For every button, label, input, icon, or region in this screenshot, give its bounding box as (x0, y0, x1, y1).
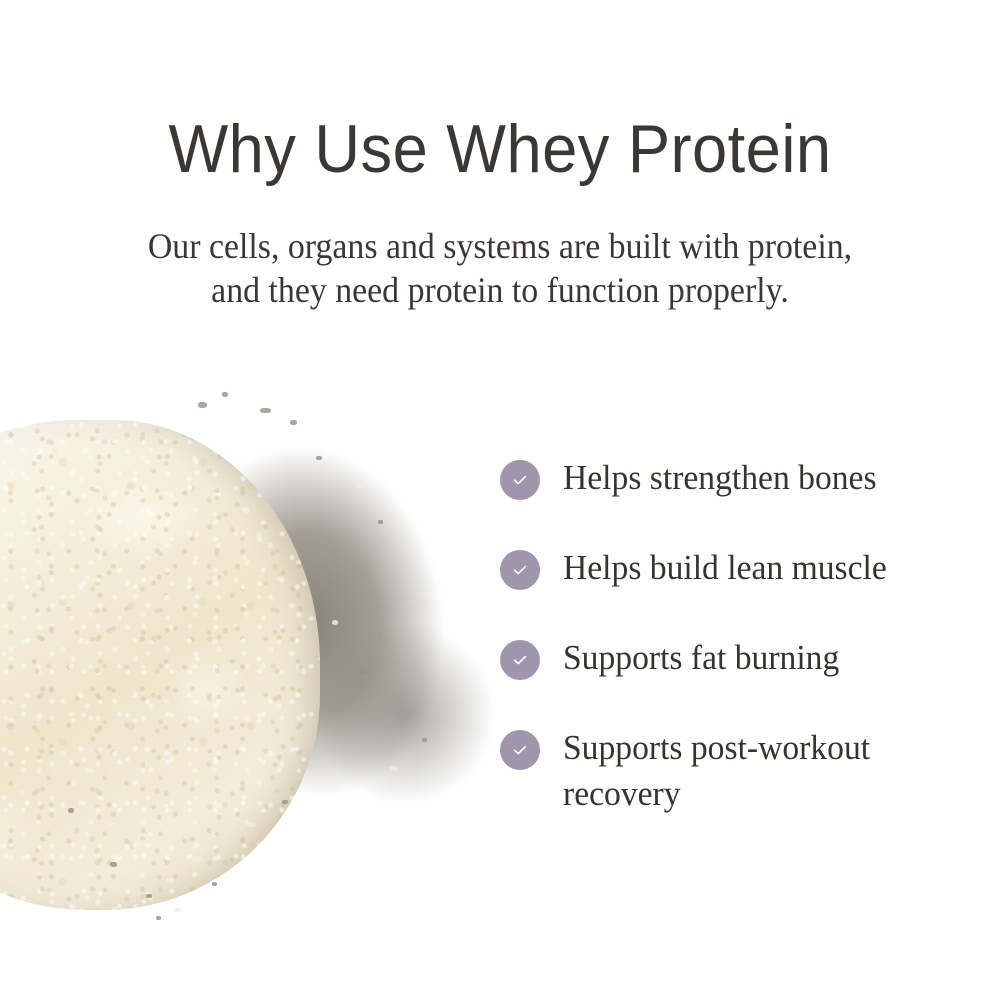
benefit-item: Helps strengthen bones (500, 455, 960, 501)
benefit-label: Supports post-workout recovery (563, 725, 944, 817)
benefit-label: Helps build lean muscle (563, 545, 887, 591)
benefit-label: Supports fat burning (563, 635, 839, 681)
check-circle-icon (500, 550, 540, 590)
benefit-item: Supports fat burning (500, 635, 960, 681)
benefit-item: Supports post-workout recovery (500, 725, 960, 817)
powder-crumbs (0, 370, 520, 970)
benefit-label: Helps strengthen bones (563, 455, 877, 501)
page-title: Why Use Whey Protein (91, 110, 909, 188)
benefits-list: Helps strengthen bones Helps build lean … (500, 455, 960, 817)
benefit-item: Helps build lean muscle (500, 545, 960, 591)
check-circle-icon (500, 460, 540, 500)
promo-card: Why Use Whey Protein Our cells, organs a… (0, 0, 1000, 1000)
check-circle-icon (500, 640, 540, 680)
check-circle-icon (500, 730, 540, 770)
protein-powder-photo (0, 370, 520, 970)
page-subtitle: Our cells, organs and systems are built … (143, 224, 857, 312)
